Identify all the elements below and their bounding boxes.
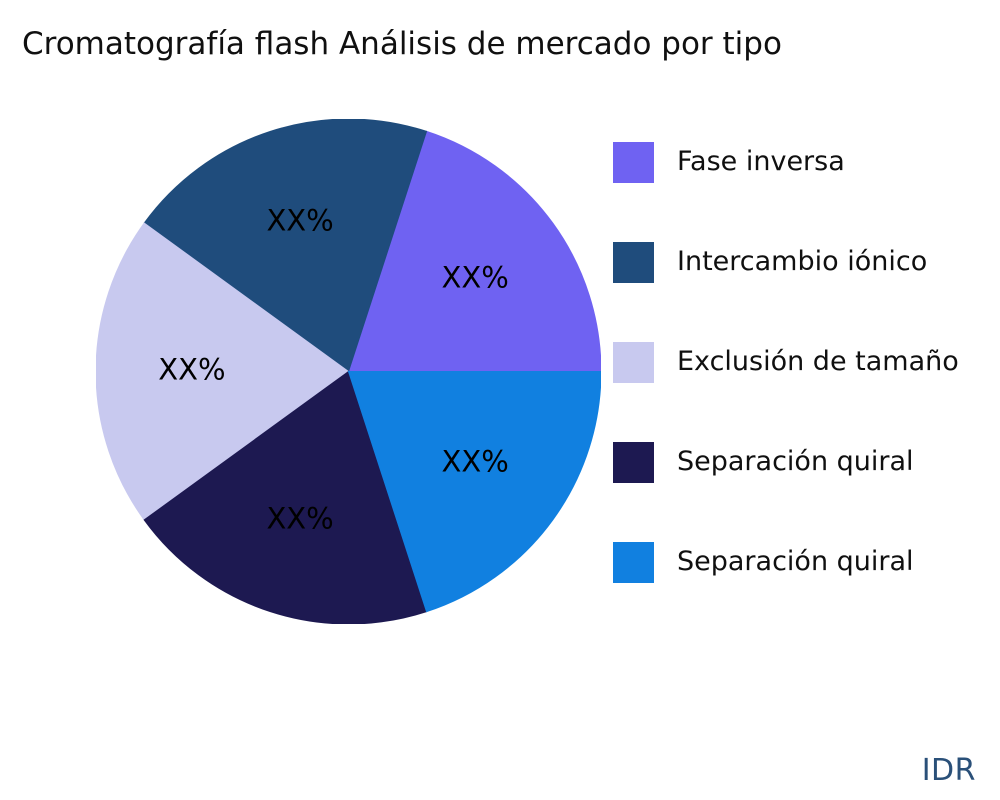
pie-chart-svg: XX%XX%XX%XX%XX% xyxy=(96,119,601,624)
legend-swatch-icon xyxy=(613,242,654,283)
chart-page: Cromatografía flash Análisis de mercado … xyxy=(0,0,1000,800)
legend-swatch-icon xyxy=(613,142,654,183)
legend-item[interactable]: Intercambio iónico xyxy=(613,212,1000,312)
legend-item-label: Exclusión de tamaño xyxy=(677,347,959,377)
legend-item-label: Separación quiral xyxy=(677,547,914,577)
pie-slice-label: XX% xyxy=(442,445,509,479)
legend-item-label: Fase inversa xyxy=(677,147,845,177)
chart-legend: Fase inversaIntercambio iónicoExclusión … xyxy=(613,112,1000,612)
pie-slice-label: XX% xyxy=(158,353,225,387)
legend-item[interactable]: Exclusión de tamaño xyxy=(613,312,1000,412)
idr-watermark: IDR xyxy=(922,753,976,788)
legend-swatch-icon xyxy=(613,542,654,583)
legend-item[interactable]: Separación quiral xyxy=(613,512,1000,612)
pie-slice-label: XX% xyxy=(442,261,509,295)
legend-item-label: Separación quiral xyxy=(677,447,914,477)
pie-slice-label: XX% xyxy=(266,501,333,535)
pie-slice-label: XX% xyxy=(266,204,333,238)
legend-item[interactable]: Separación quiral xyxy=(613,412,1000,512)
pie-chart: XX%XX%XX%XX%XX% xyxy=(96,119,601,624)
legend-item-label: Intercambio iónico xyxy=(677,247,927,277)
legend-swatch-icon xyxy=(613,342,654,383)
page-title: Cromatografía flash Análisis de mercado … xyxy=(22,24,782,64)
legend-swatch-icon xyxy=(613,442,654,483)
legend-item[interactable]: Fase inversa xyxy=(613,112,1000,212)
